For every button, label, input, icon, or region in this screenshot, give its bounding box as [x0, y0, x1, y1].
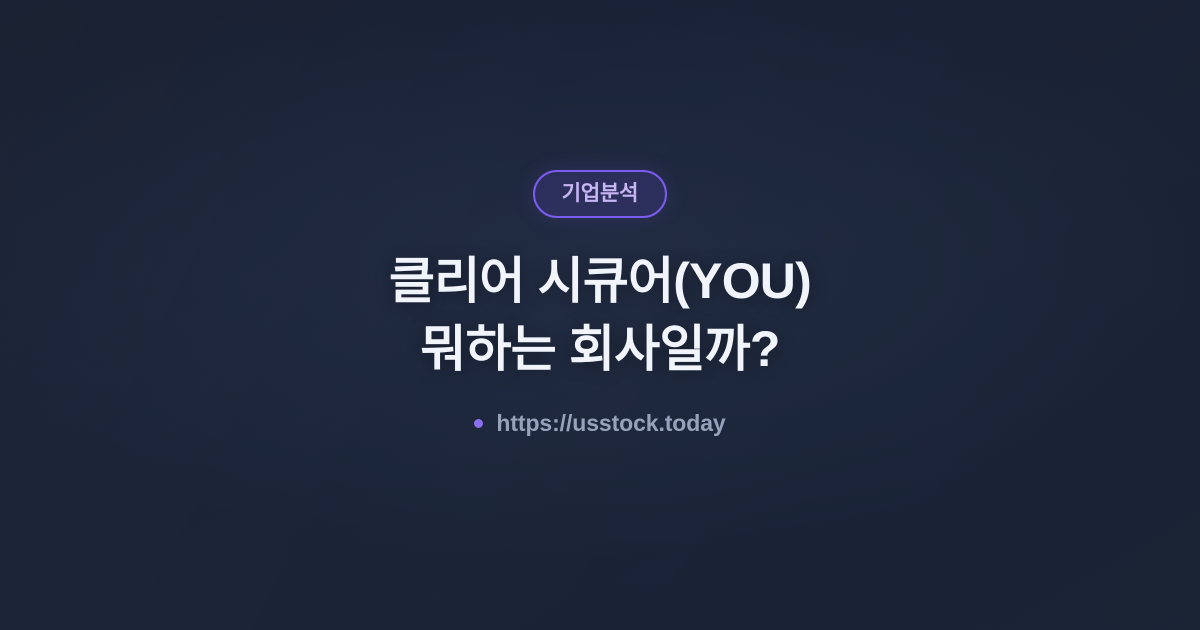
category-badge: 기업분석	[533, 170, 667, 218]
page-title-line-2: 뭐하는 회사일까?	[389, 317, 811, 381]
card-content: 기업분석 클리어 시큐어(YOU) 뭐하는 회사일까? https://usst…	[0, 170, 1200, 435]
bullet-dot-icon	[474, 419, 483, 428]
og-share-card: 기업분석 클리어 시큐어(YOU) 뭐하는 회사일까? https://usst…	[0, 0, 1200, 630]
category-badge-label: 기업분석	[562, 183, 638, 204]
site-url: https://usstock.today	[474, 412, 725, 435]
page-title: 클리어 시큐어(YOU) 뭐하는 회사일까?	[389, 249, 811, 381]
site-url-text: https://usstock.today	[496, 412, 725, 435]
page-title-line-1: 클리어 시큐어(YOU)	[389, 249, 811, 313]
